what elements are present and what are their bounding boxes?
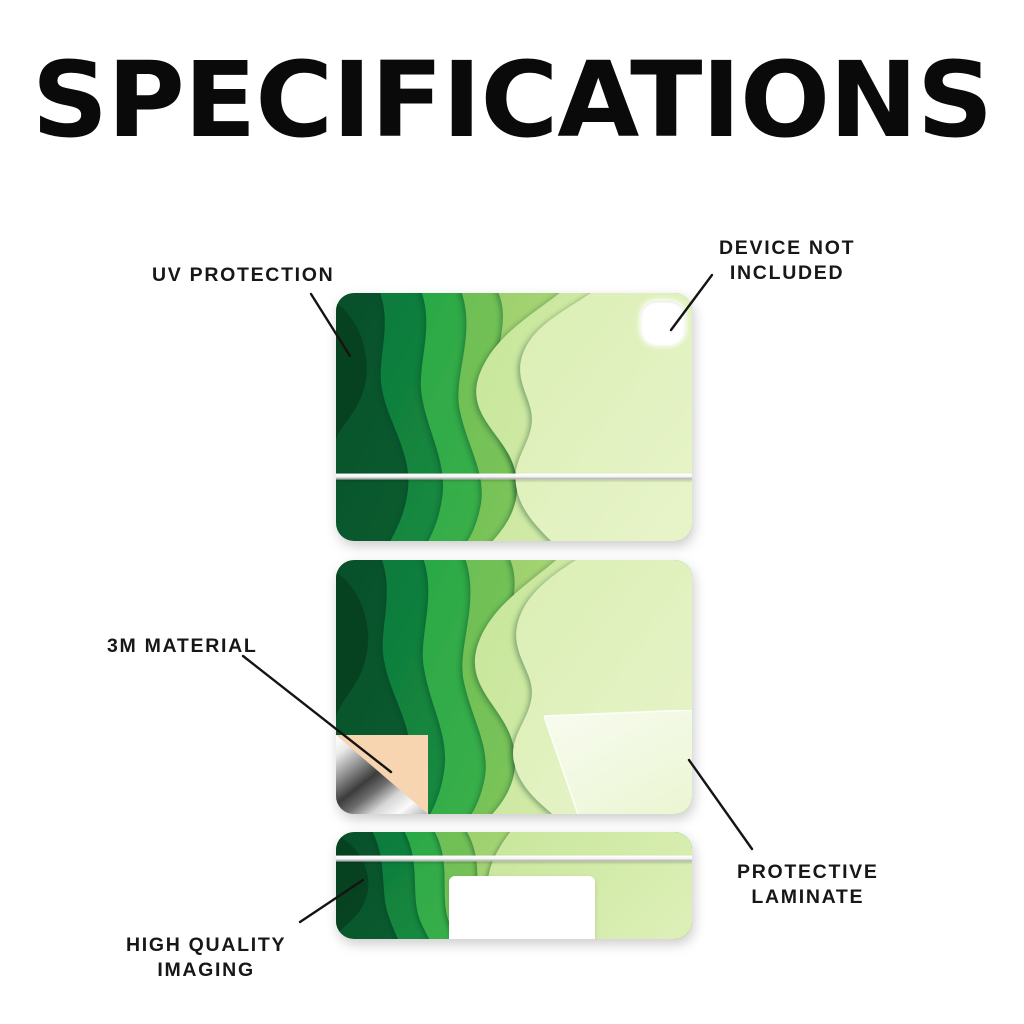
camera-cutout	[641, 301, 685, 345]
protective-laminate-peel[interactable]	[544, 710, 692, 814]
tablet-side-skin-panel[interactable]	[336, 832, 692, 939]
callout-label-device-not-included: DEVICE NOT INCLUDED	[719, 236, 855, 287]
leader-line-protective-laminate	[689, 760, 752, 849]
callout-label-protective-laminate: PROTECTIVE LAMINATE	[737, 860, 879, 911]
screen-window-cutout	[449, 876, 595, 939]
tablet-front-skin-panel[interactable]	[336, 560, 692, 814]
peel-curl-3m[interactable]	[336, 735, 428, 814]
tablet-back-skin-panel[interactable]	[336, 293, 692, 541]
page-title: SPECIFICATIONS	[0, 48, 1024, 152]
specifications-graphic: SPECIFICATIONS	[0, 0, 1024, 1024]
callout-label-high-quality-imaging: HIGH QUALITY IMAGING	[126, 933, 286, 984]
callout-label-3m-material: 3M MATERIAL	[107, 634, 258, 659]
callout-label-uv-protection: UV PROTECTION	[152, 263, 334, 288]
skin-artwork-back	[336, 293, 692, 541]
skin-split-seam	[336, 473, 692, 480]
skin-split-seam-side	[336, 855, 692, 862]
